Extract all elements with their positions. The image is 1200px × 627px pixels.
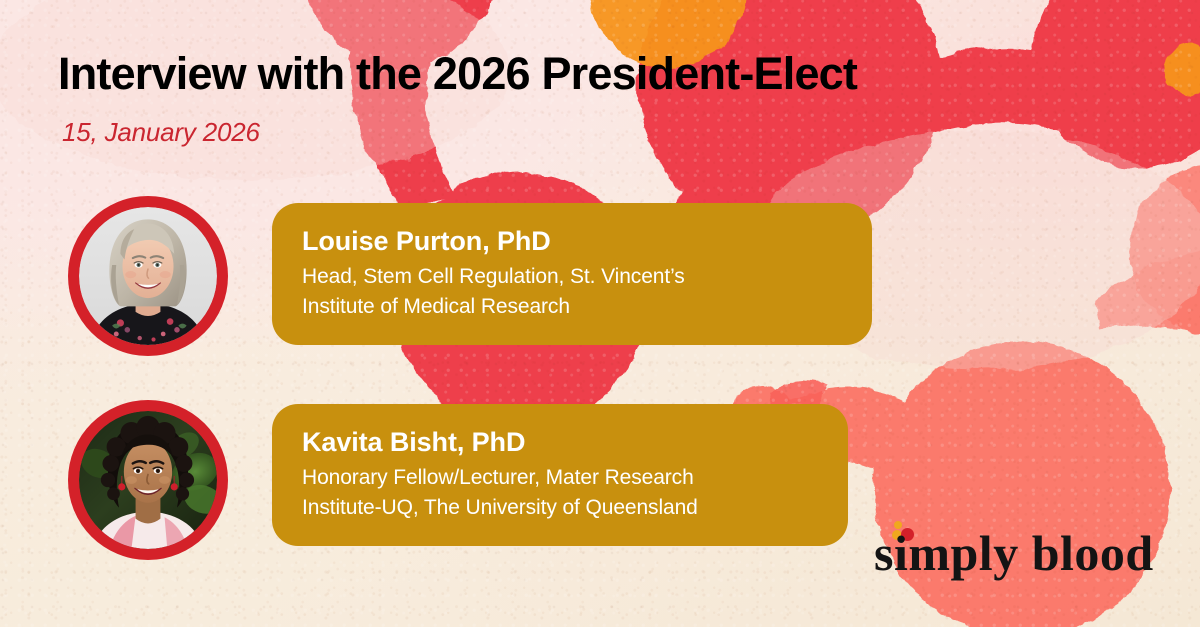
speaker-role-line-2: Institute of Medical Research <box>302 292 842 322</box>
speaker-name: Kavita Bisht, PhD <box>302 426 818 460</box>
speaker-name: Louise Purton, PhD <box>302 225 842 259</box>
avatar-kavita-bisht <box>68 400 228 560</box>
speaker-card-2: Kavita Bisht, PhD Honorary Fellow/Lectur… <box>272 404 848 546</box>
page-title: Interview with the 2026 President-Elect <box>58 50 857 99</box>
avatar-photo <box>79 207 217 345</box>
event-date: 15, January 2026 <box>62 117 260 148</box>
speaker-role-line-1: Head, Stem Cell Regulation, St. Vincent’… <box>302 262 842 292</box>
avatar-louise-purton <box>68 196 228 356</box>
logo-wordmark: simply blood <box>874 528 1154 578</box>
speaker-role-line-2: Institute-UQ, The University of Queensla… <box>302 493 818 523</box>
avatar-photo <box>79 411 217 549</box>
speaker-card-1: Louise Purton, PhD Head, Stem Cell Regul… <box>272 203 872 345</box>
banner-graphic: Interview with the 2026 President-Elect … <box>0 0 1200 627</box>
speaker-role-line-1: Honorary Fellow/Lecturer, Mater Research <box>302 463 818 493</box>
simply-blood-logo: simply blood <box>874 518 1164 580</box>
